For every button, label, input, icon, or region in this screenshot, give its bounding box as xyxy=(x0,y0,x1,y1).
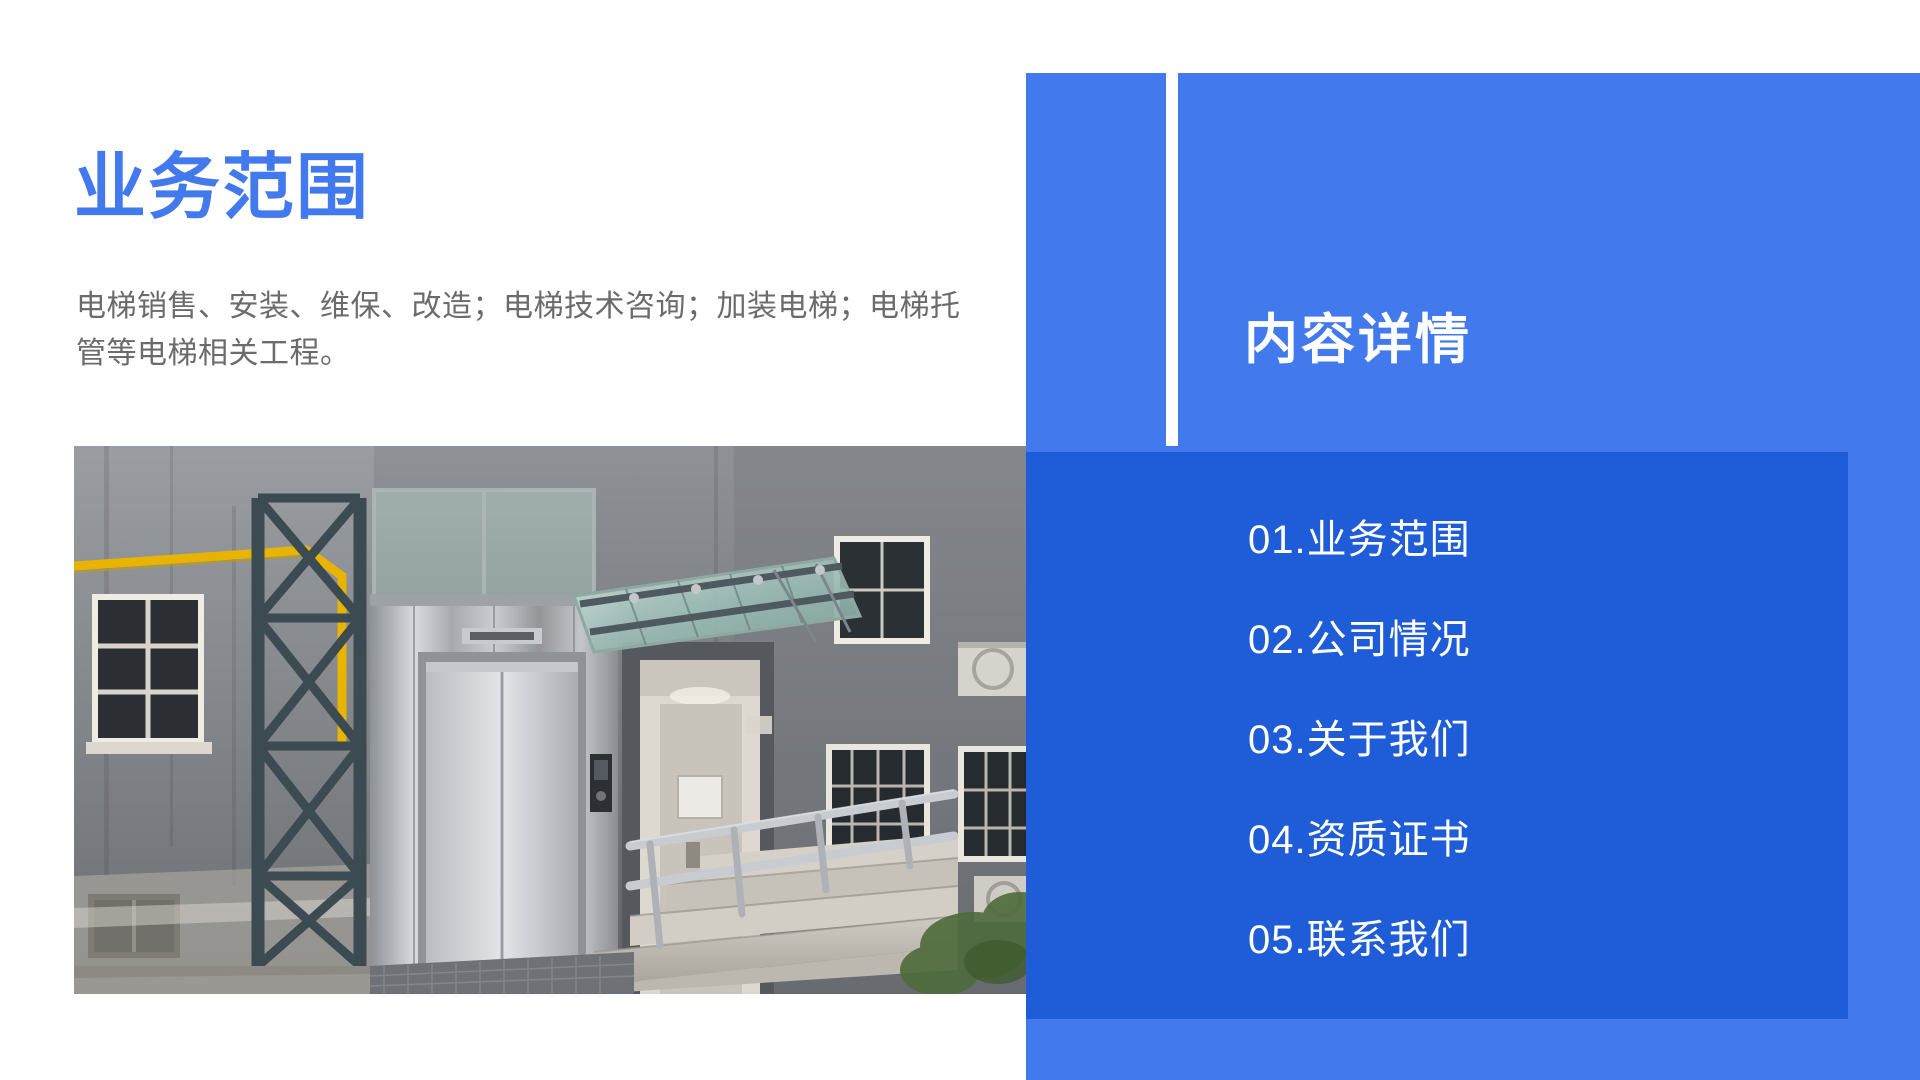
list-item[interactable]: 05.联系我们 xyxy=(1248,890,1808,990)
list-item[interactable]: 03.关于我们 xyxy=(1248,690,1808,790)
slide-root: 业务范围 电梯销售、安装、维保、改造；电梯技术咨询；加装电梯；电梯托管等电梯相关… xyxy=(0,0,1920,1080)
right-navigation-panel: 内容详情 01.业务范围 02.公司情况 03.关于我们 04.资质证书 05.… xyxy=(0,0,1920,1080)
panel-divider-gap xyxy=(1166,73,1178,446)
contents-list: 01.业务范围 02.公司情况 03.关于我们 04.资质证书 05.联系我们 xyxy=(1248,490,1808,990)
list-item[interactable]: 01.业务范围 xyxy=(1248,490,1808,590)
list-item[interactable]: 04.资质证书 xyxy=(1248,790,1808,890)
list-item[interactable]: 02.公司情况 xyxy=(1248,590,1808,690)
panel-header-block xyxy=(1178,73,1848,446)
panel-title: 内容详情 xyxy=(1244,313,1472,367)
